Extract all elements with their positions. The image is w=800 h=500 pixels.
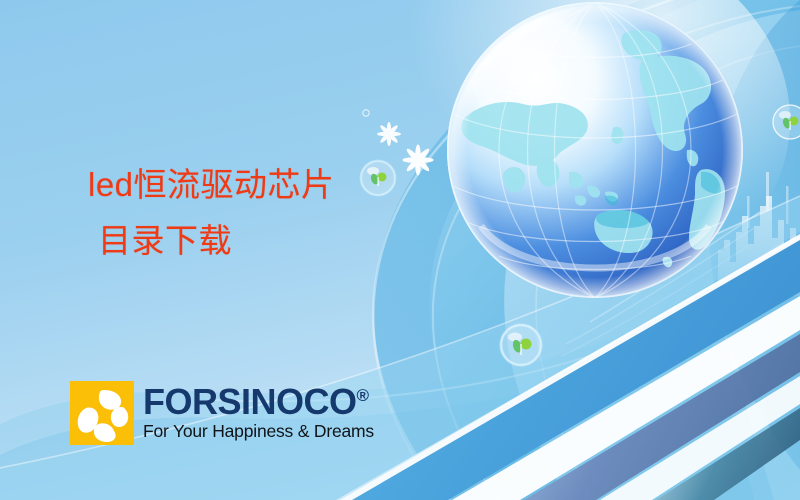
logo-tagline: For Your Happiness & Dreams — [143, 421, 374, 442]
brand-logo[interactable]: FORSINOCO® For Your Happiness & Dreams — [70, 381, 374, 445]
logo-wordmark-text: FORSINOCO — [143, 381, 357, 422]
promo-banner: led恒流驱动芯片 目录下载 FORSINOCO® For — [0, 0, 800, 500]
registered-trademark-icon: ® — [357, 386, 369, 405]
headline-latin: led — [88, 166, 134, 203]
headline-line-1: led恒流驱动芯片 — [88, 162, 335, 208]
logo-wordmark: FORSINOCO® — [143, 385, 374, 420]
earth-globe — [445, 0, 745, 300]
headline-line-2: 目录下载 — [88, 218, 335, 264]
page-title: led恒流驱动芯片 目录下载 — [88, 162, 335, 263]
pinwheel-petal-mark-icon — [70, 381, 134, 445]
headline-cjk: 恒流驱动芯片 — [134, 165, 335, 204]
logo-text-block: FORSINOCO® For Your Happiness & Dreams — [143, 381, 374, 442]
